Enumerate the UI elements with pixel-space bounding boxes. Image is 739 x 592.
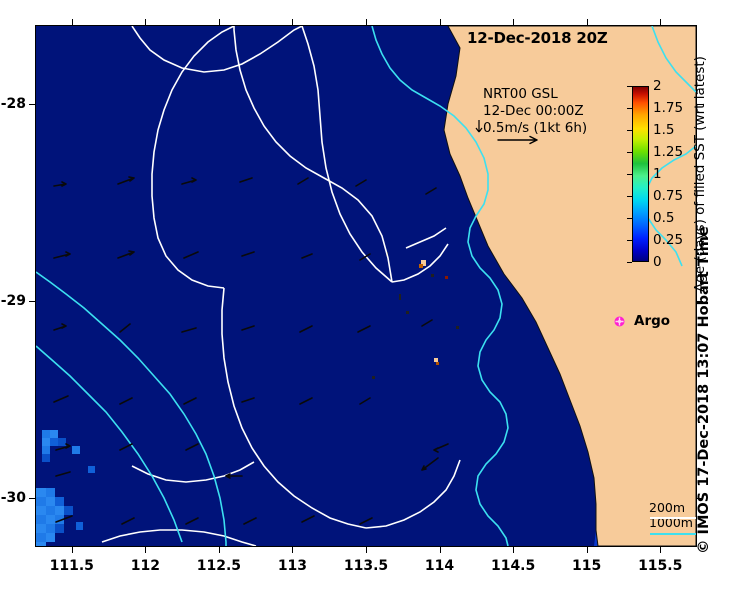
chart-title: 12-Dec-2018 20Z [467, 29, 608, 47]
x-axis-tick-top [513, 19, 514, 25]
y-axis-label: -29 [1, 293, 26, 309]
annotation-line-product: NRT00 GSL [483, 86, 587, 103]
colorbar-gradient [632, 86, 649, 262]
x-axis-tick [292, 547, 293, 553]
x-axis-tick-top [292, 19, 293, 25]
x-axis-tick-top [440, 19, 441, 25]
colorbar-tick [627, 130, 632, 131]
colorbar-tick [627, 262, 632, 263]
x-axis-label: 115.5 [638, 558, 682, 574]
depth-scale-legend: 200m 1000m [649, 500, 693, 530]
colorbar-tick [627, 174, 632, 175]
depth-line-1000m [650, 533, 696, 535]
colorbar-tick [627, 108, 632, 109]
colorbar-tick [627, 196, 632, 197]
y-axis-tick-right [697, 104, 703, 105]
y-axis-tick-right [697, 498, 703, 499]
x-axis-tick-top [145, 19, 146, 25]
colorbar-tick-label: 2 [653, 78, 662, 94]
x-axis-tick [660, 547, 661, 553]
y-axis-tick-right [697, 301, 703, 302]
sst-age-map [36, 26, 696, 546]
vector-reference-tick [474, 119, 486, 135]
x-axis-label: 112.5 [197, 558, 241, 574]
x-axis-label: 113.5 [344, 558, 388, 574]
colorbar-tick [627, 86, 632, 87]
x-axis-tick [587, 547, 588, 553]
x-axis-label: 114 [425, 558, 454, 574]
map-plot-area [35, 25, 697, 547]
x-axis-tick [440, 547, 441, 553]
colorbar-tick-label: 0.75 [653, 188, 683, 204]
colorbar-tick [627, 218, 632, 219]
argo-legend-label: Argo [634, 313, 670, 329]
x-axis-tick-top [660, 19, 661, 25]
x-axis-tick [366, 547, 367, 553]
x-axis-tick [219, 547, 220, 553]
copyright-text: © IMOS 17-Dec-2018 13:07 Hobart Time [696, 226, 712, 554]
y-axis-label: -30 [1, 490, 26, 506]
colorbar-tick-label: 0 [653, 254, 662, 270]
colorbar-tick-label: 1.25 [653, 144, 683, 160]
y-axis-tick [29, 301, 35, 302]
x-axis-tick [513, 547, 514, 553]
annotation-line-time: 12-Dec 00:00Z [483, 103, 587, 120]
colorbar-tick-label: 0.25 [653, 232, 683, 248]
depth-line-200m [650, 517, 696, 519]
y-axis-tick [29, 104, 35, 105]
x-axis-label: 113 [278, 558, 307, 574]
colorbar-tick-label: 1.5 [653, 122, 674, 138]
colorbar-tick [627, 240, 632, 241]
x-axis-label: 115 [572, 558, 601, 574]
x-axis-tick [72, 547, 73, 553]
colorbar-tick [627, 152, 632, 153]
y-axis-label: -28 [1, 96, 26, 112]
current-annotation-block: NRT00 GSL 12-Dec 00:00Z 0.5m/s (1kt 6h) [483, 86, 587, 137]
depth-label-200m: 200m [649, 500, 693, 515]
x-axis-tick-top [366, 19, 367, 25]
colorbar-tick-label: 1 [653, 166, 662, 182]
x-axis-label: 112 [131, 558, 160, 574]
argo-legend: Argo [614, 313, 670, 329]
x-axis-tick-top [219, 19, 220, 25]
x-axis-label: 114.5 [491, 558, 535, 574]
colorbar-tick-label: 0.5 [653, 210, 674, 226]
x-axis-tick [145, 547, 146, 553]
y-axis-tick [29, 498, 35, 499]
x-axis-tick-top [587, 19, 588, 25]
x-axis-label: 111.5 [50, 558, 94, 574]
scale-arrow-icon [497, 134, 543, 146]
colorbar-tick-label: 1.75 [653, 100, 683, 116]
argo-marker-icon [614, 316, 625, 327]
x-axis-tick-top [72, 19, 73, 25]
chart-canvas: 12-Dec-2018 20Z NRT00 GSL 12-Dec 00:00Z … [0, 0, 739, 592]
